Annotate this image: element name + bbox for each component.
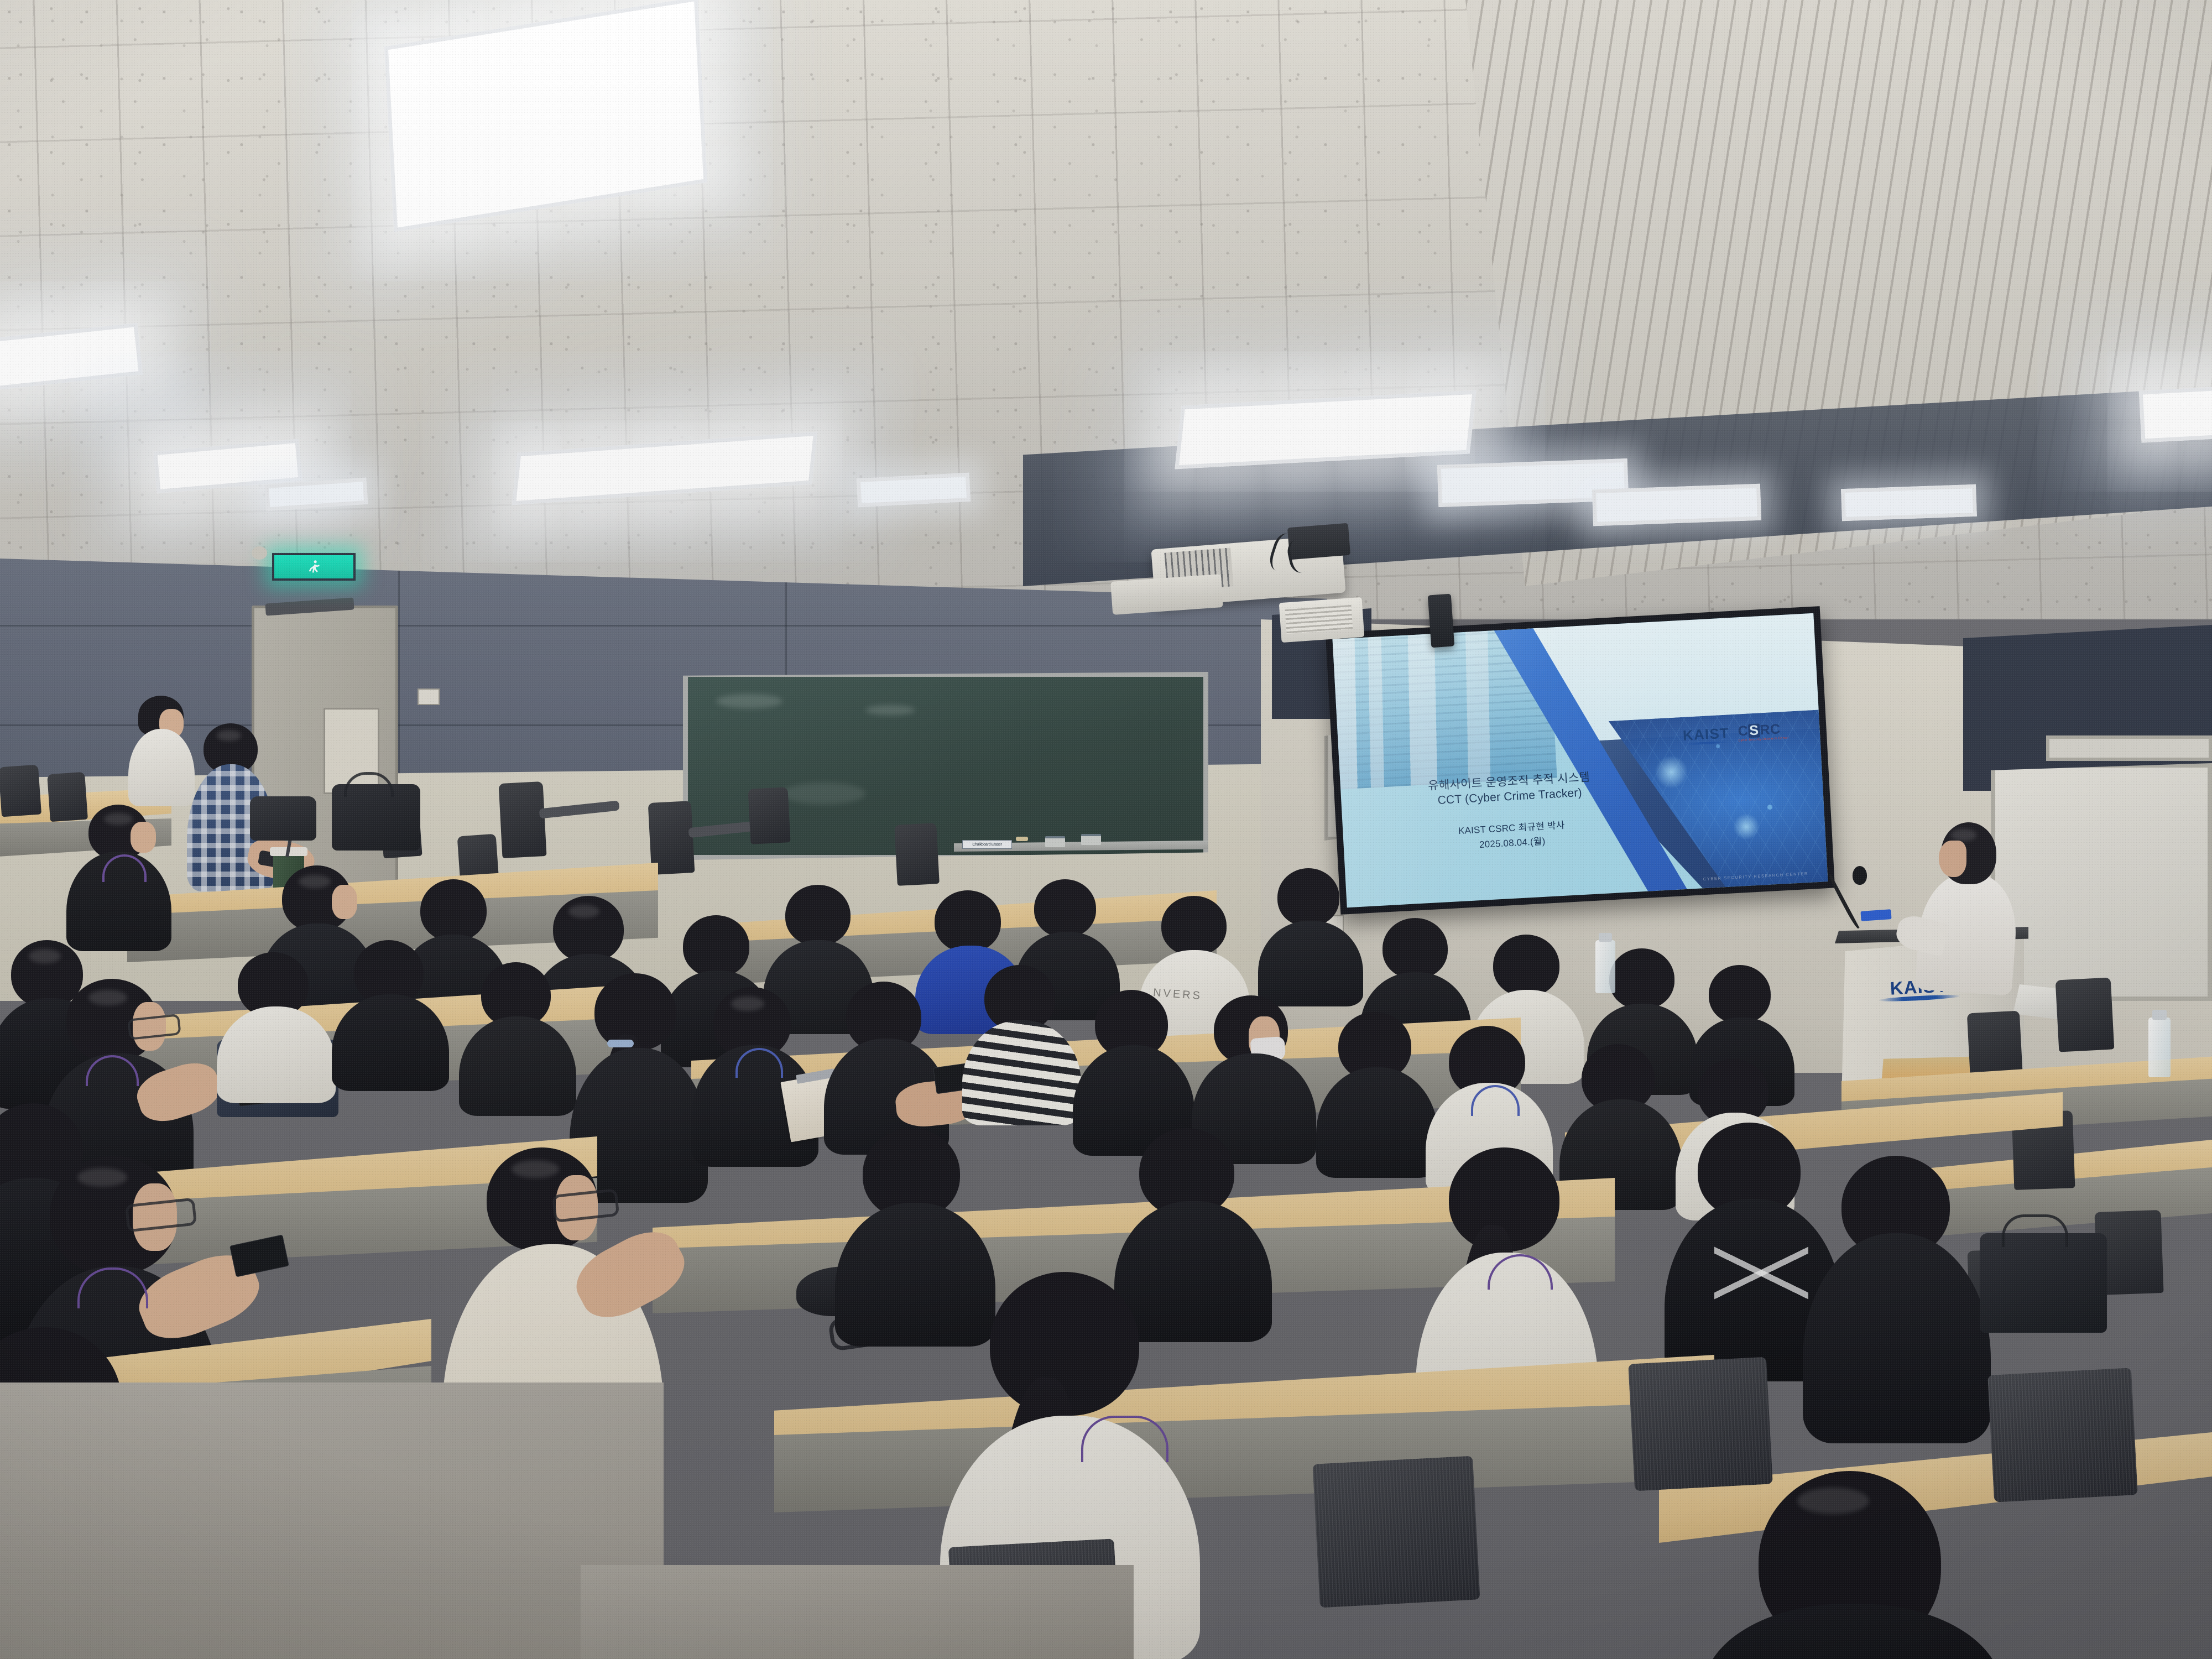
slide-csrc-logo: CSRC Cyber Security Research Center bbox=[1738, 722, 1789, 743]
gooseneck-microphone bbox=[1853, 866, 1867, 885]
empty-chair-2[interactable] bbox=[47, 772, 88, 822]
bottle-cap-r3 bbox=[1599, 933, 1612, 942]
wall-outlet-left bbox=[418, 688, 440, 705]
csrc-s: S bbox=[1748, 724, 1761, 738]
head bbox=[1493, 935, 1559, 997]
floor bbox=[0, 1383, 664, 1659]
air-conditioner-grill bbox=[1285, 605, 1353, 634]
torso bbox=[962, 1020, 1081, 1125]
projection-screen: KAIST CSRC Cyber Security Research Cente… bbox=[1332, 613, 1828, 907]
face bbox=[131, 822, 156, 853]
head bbox=[1609, 948, 1674, 1009]
projection-screen-frame: KAIST CSRC Cyber Security Research Cente… bbox=[1326, 606, 1835, 915]
head bbox=[683, 915, 749, 977]
running-person-exit-icon bbox=[307, 559, 321, 575]
chair-front-5[interactable] bbox=[1987, 1368, 2138, 1502]
slide-kaist-logo: KAIST bbox=[1682, 727, 1729, 745]
wall-speaker bbox=[1428, 594, 1455, 648]
head bbox=[1161, 896, 1227, 956]
backpack-r5-right[interactable] bbox=[1980, 1233, 2107, 1333]
hair-tie bbox=[607, 1040, 634, 1047]
face bbox=[332, 885, 357, 919]
backpack-r5-right-strap bbox=[2002, 1214, 2068, 1247]
ceiling-light-7 bbox=[1592, 484, 1761, 526]
ceiling-light-8 bbox=[2139, 383, 2212, 442]
csrc-rc: RC bbox=[1760, 722, 1781, 738]
head bbox=[1383, 918, 1448, 979]
empty-chair-6[interactable] bbox=[894, 823, 940, 886]
empty-chair-1[interactable] bbox=[0, 765, 41, 817]
chalk-tray-label: Chalkboard Eraser bbox=[962, 840, 1012, 849]
wall-smoke-detector bbox=[252, 546, 267, 560]
empty-chair-9[interactable] bbox=[2056, 977, 2115, 1052]
presentation-clicker[interactable] bbox=[1860, 909, 1891, 921]
ceiling-light-9 bbox=[1841, 484, 1977, 521]
head bbox=[1709, 965, 1771, 1024]
floor-aisle bbox=[581, 1565, 1134, 1659]
torso bbox=[1703, 1604, 2002, 1659]
empty-chair-5[interactable] bbox=[748, 787, 790, 844]
exit-sign bbox=[272, 553, 356, 581]
bottle-cap-right-desk bbox=[2152, 1010, 2167, 1020]
chalkboard-eraser-2[interactable] bbox=[1081, 834, 1101, 845]
head bbox=[1034, 879, 1096, 937]
whiteboard-right-upper bbox=[2046, 735, 2212, 761]
ceiling-light-11 bbox=[857, 473, 971, 508]
water-bottle-right-desk[interactable] bbox=[2148, 1018, 2171, 1077]
head bbox=[935, 890, 1001, 952]
whiteboard-right bbox=[1991, 763, 2212, 1001]
chalkboard-eraser-1[interactable] bbox=[1045, 836, 1065, 847]
slide-title-block: 유해사이트 운영조직 추적 시스템 CCT (Cyber Crime Track… bbox=[1369, 765, 1652, 856]
presenter-face bbox=[1939, 841, 1966, 877]
csrc-c: C bbox=[1738, 723, 1749, 739]
head bbox=[785, 885, 851, 946]
water-bottle-r3[interactable] bbox=[1595, 940, 1615, 993]
head bbox=[420, 879, 487, 941]
head bbox=[1277, 868, 1339, 926]
bag-small-dark[interactable] bbox=[250, 796, 316, 841]
lanyard bbox=[1081, 1416, 1168, 1462]
ceiling bbox=[0, 0, 2212, 619]
lecture-hall-photo: Chalkboard Eraser KAIST CSRC bbox=[0, 0, 2212, 1659]
empty-chair-3[interactable] bbox=[499, 781, 547, 858]
chalk-piece[interactable] bbox=[1016, 837, 1028, 841]
chair-front-4[interactable] bbox=[1628, 1357, 1773, 1491]
chair-front-3[interactable] bbox=[1312, 1456, 1480, 1608]
tshirt-print bbox=[1714, 1239, 1808, 1305]
